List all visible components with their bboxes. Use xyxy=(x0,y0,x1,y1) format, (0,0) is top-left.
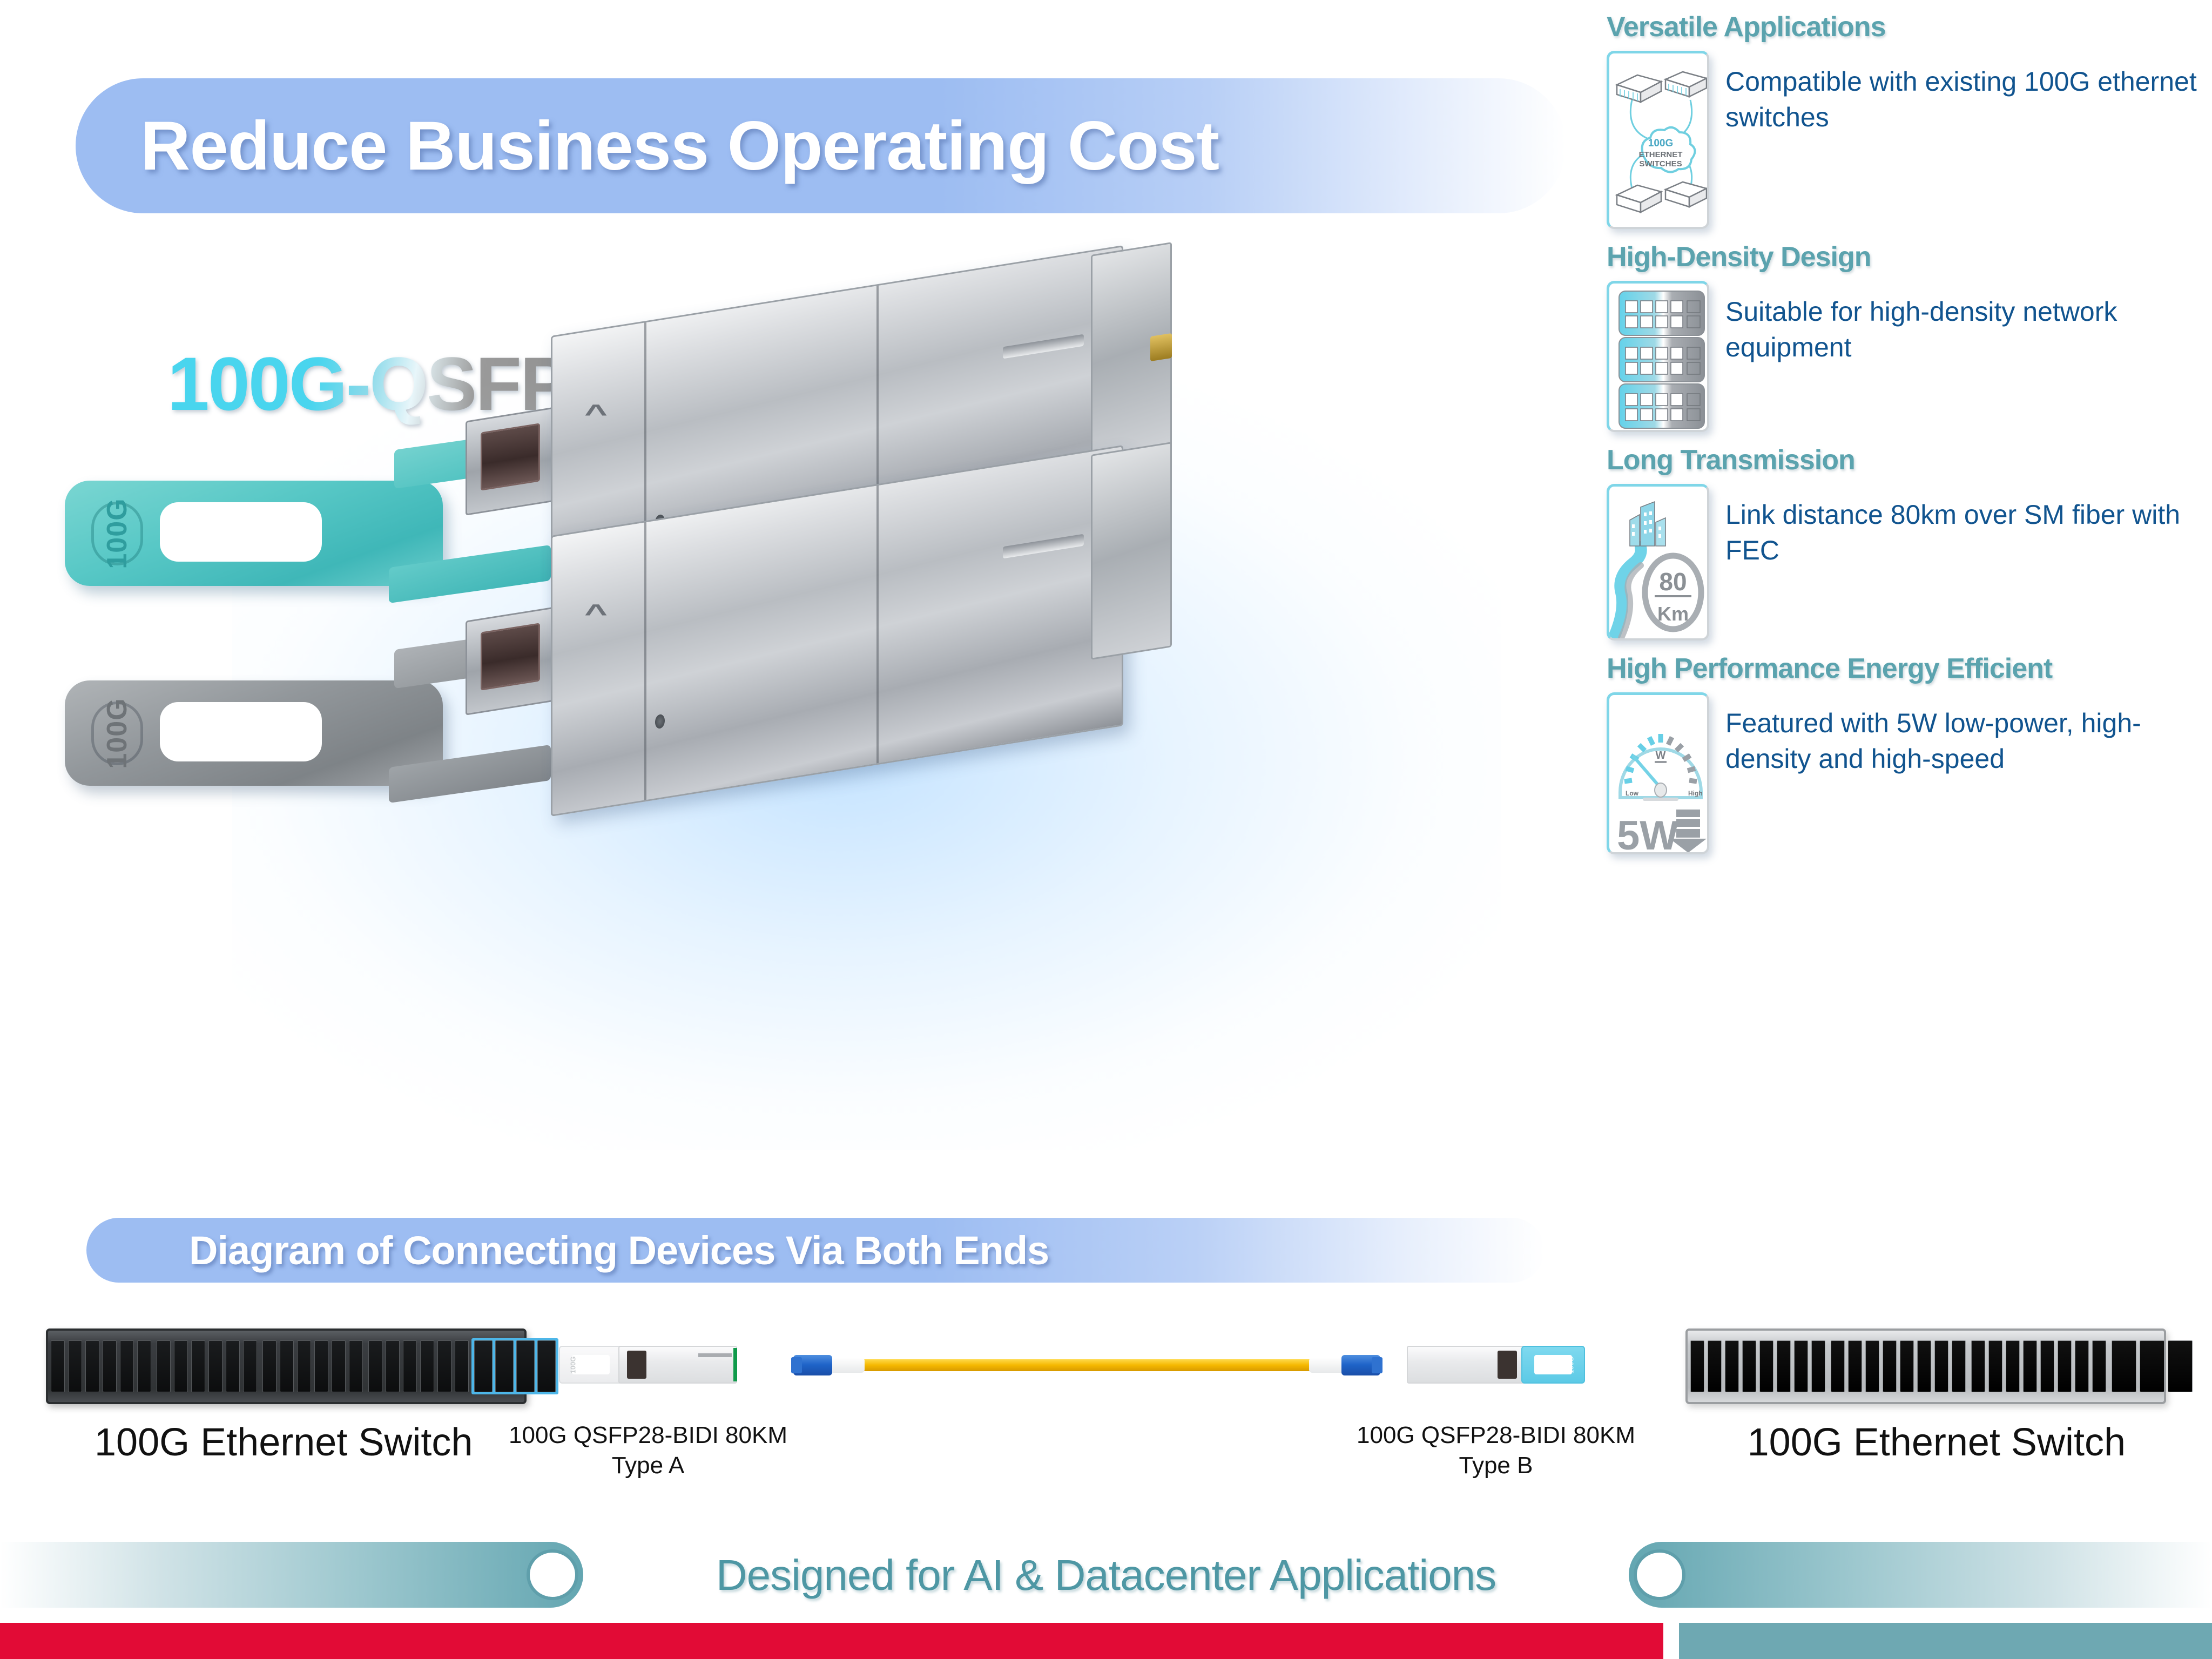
sfp-port xyxy=(1900,1340,1914,1392)
feature-list: Versatile Applications xyxy=(1607,11,2201,866)
qsfp-port-group-highlighted xyxy=(471,1338,558,1394)
sfp-port xyxy=(2006,1340,2020,1392)
qsfp-port xyxy=(474,1340,493,1392)
lc-connector-cap-left xyxy=(791,1357,802,1373)
sfp-port xyxy=(137,1340,151,1392)
left-ethernet-switch xyxy=(46,1328,527,1404)
sfp-port xyxy=(455,1340,469,1392)
sfp-port xyxy=(1934,1340,1948,1392)
fiber-cable-jacket xyxy=(860,1359,1314,1371)
feature-description: Suitable for high-density network equipm… xyxy=(1725,281,2201,365)
sfp-port xyxy=(332,1340,346,1392)
sfp-port xyxy=(1742,1340,1756,1392)
product-photo: 100G ^ 100G ^ xyxy=(135,302,1550,1199)
sfp-port xyxy=(85,1340,99,1392)
sfp-port xyxy=(2040,1340,2054,1392)
module-a-pull-tab: 100G xyxy=(559,1346,623,1384)
power-gauge-icon: W Low High 5W xyxy=(1607,692,1709,854)
sfp-port xyxy=(68,1340,82,1392)
qsfp-port xyxy=(516,1340,535,1392)
sfp-port xyxy=(1690,1340,1704,1392)
svg-text:Low: Low xyxy=(1626,790,1639,797)
housing-slot xyxy=(1003,334,1084,359)
sfp-port-group xyxy=(1688,1340,1828,1392)
sfp-port-group xyxy=(260,1340,366,1392)
sfp-port xyxy=(2058,1340,2072,1392)
feature-description: Link distance 80km over SM fiber with FE… xyxy=(1725,484,2201,568)
sfp-port xyxy=(403,1340,417,1392)
feature-heading: High Performance Energy Efficient xyxy=(1607,652,2201,685)
orientation-chevron-gray: ^ xyxy=(584,598,608,628)
road-distance-icon: 80 Km xyxy=(1607,484,1709,640)
strip-teal xyxy=(1679,1623,2212,1659)
bottom-color-strip xyxy=(0,1623,2212,1659)
housing-seam xyxy=(644,522,646,800)
sfp-port xyxy=(2075,1340,2089,1392)
sfp-port xyxy=(1917,1340,1931,1392)
module-type-a: 100G xyxy=(559,1346,737,1384)
svg-text:80: 80 xyxy=(1659,568,1687,596)
svg-text:100G: 100G xyxy=(1648,138,1673,149)
qsfp-port xyxy=(495,1340,514,1392)
sfp-port xyxy=(1794,1340,1808,1392)
sfp-port-group xyxy=(154,1340,260,1392)
right-switch-label: 100G Ethernet Switch xyxy=(1748,1420,2126,1465)
qsfp-port-group xyxy=(2109,1340,2195,1392)
sfp-port xyxy=(1988,1340,2002,1392)
qsfp28-module-gray: 100G ^ xyxy=(70,464,1474,950)
svg-text:High: High xyxy=(1688,790,1703,797)
sfp-port xyxy=(280,1340,294,1392)
footer-tagline: Designed for AI & Datacenter Application… xyxy=(0,1550,2212,1600)
module-a-optical-port xyxy=(627,1351,646,1379)
feature-energy-efficient: High Performance Energy Efficient xyxy=(1607,652,2201,854)
sfp-port xyxy=(243,1340,257,1392)
module-a-label-strip xyxy=(698,1353,732,1357)
module-b-caption: 100G QSFP28-BIDI 80KM Type B xyxy=(1345,1420,1647,1481)
header-banner: Reduce Business Operating Cost xyxy=(76,78,1566,213)
sfp-port xyxy=(157,1340,171,1392)
sfp-port xyxy=(1725,1340,1739,1392)
qsfp-port xyxy=(537,1340,556,1392)
strip-red xyxy=(0,1623,1663,1659)
sfp-port xyxy=(226,1340,240,1392)
feature-versatile-applications: Versatile Applications xyxy=(1607,11,2201,229)
housing-screw xyxy=(655,714,665,730)
feature-heading: Long Transmission xyxy=(1607,444,2201,476)
feature-description: Compatible with existing 100G ethernet s… xyxy=(1725,51,2201,135)
sfp-port xyxy=(1865,1340,1879,1392)
strip-gap xyxy=(1663,1623,1679,1659)
housing-seam xyxy=(876,485,879,764)
qsfp-port xyxy=(2112,1340,2136,1392)
module-type-b: 100G xyxy=(1407,1346,1585,1384)
fiber-boot-left xyxy=(830,1358,865,1373)
qsfp-port xyxy=(2168,1340,2193,1392)
module-housing-gray xyxy=(551,445,1123,817)
sfp-port xyxy=(1759,1340,1773,1392)
sfp-port xyxy=(437,1340,451,1392)
orientation-chevron-teal: ^ xyxy=(584,399,608,428)
svg-text:ETHERNET: ETHERNET xyxy=(1639,150,1683,159)
sfp-port xyxy=(1777,1340,1791,1392)
sfp-port-group xyxy=(1968,1340,2109,1392)
sfp-port-group xyxy=(366,1340,471,1392)
sfp-port xyxy=(174,1340,188,1392)
module-b-name: 100G QSFP28-BIDI 80KM xyxy=(1357,1422,1635,1448)
diagram-banner-title: Diagram of Connecting Devices Via Both E… xyxy=(189,1228,1049,1273)
module-b-type: Type B xyxy=(1459,1452,1533,1479)
sfp-port xyxy=(262,1340,276,1392)
module-tail-gray xyxy=(1091,442,1172,660)
sfp-port xyxy=(314,1340,328,1392)
sfp-port xyxy=(1883,1340,1897,1392)
feature-high-density-design: High-Density Design xyxy=(1607,241,2201,432)
pull-tab-badge: 100G xyxy=(569,1356,577,1373)
pull-tab-cutout xyxy=(160,702,322,761)
page-title: Reduce Business Operating Cost xyxy=(140,106,1219,186)
footer-banner: Designed for AI & Datacenter Application… xyxy=(0,1542,2212,1628)
sfp-port xyxy=(1831,1340,1845,1392)
module-a-caption: 100G QSFP28-BIDI 80KM Type A xyxy=(497,1420,799,1481)
sfp-port-group xyxy=(48,1340,154,1392)
left-switch-label: 100G Ethernet Switch xyxy=(95,1420,473,1465)
sfp-port xyxy=(386,1340,400,1392)
pull-tab-gray: 100G xyxy=(65,680,443,786)
fiber-patch-cable xyxy=(791,1354,1382,1376)
sfp-port xyxy=(1811,1340,1825,1392)
qsfp-port xyxy=(2140,1340,2164,1392)
sfp-port xyxy=(1848,1340,1862,1392)
sfp-port xyxy=(1708,1340,1722,1392)
connection-diagram: 100G Ethernet Switch 100G 100G QSFP28-BI… xyxy=(0,1312,2212,1539)
diagram-banner: Diagram of Connecting Devices Via Both E… xyxy=(86,1218,1545,1283)
module-a-name: 100G QSFP28-BIDI 80KM xyxy=(509,1422,787,1448)
cloud-network-switches-icon: 100G ETHERNET SWITCHES xyxy=(1607,51,1709,229)
feature-heading: Versatile Applications xyxy=(1607,11,2201,43)
sfp-port xyxy=(120,1340,134,1392)
fiber-boot-right xyxy=(1309,1358,1344,1373)
sfp-port xyxy=(103,1340,117,1392)
svg-text:5W: 5W xyxy=(1617,813,1678,854)
sfp-port xyxy=(2023,1340,2037,1392)
lc-connector-cap-right xyxy=(1372,1357,1382,1373)
sfp-port xyxy=(208,1340,222,1392)
module-a-type: Type A xyxy=(612,1452,685,1479)
svg-text:SWITCHES: SWITCHES xyxy=(1639,159,1682,168)
right-ethernet-switch xyxy=(1685,1328,2166,1404)
feature-heading: High-Density Design xyxy=(1607,241,2201,273)
gold-contact-teal xyxy=(1150,333,1172,361)
feature-long-transmission: Long Transmission xyxy=(1607,444,2201,640)
feature-description: Featured with 5W low-power, high-density… xyxy=(1725,692,2201,777)
sfp-port xyxy=(297,1340,311,1392)
module-a-edge-connector xyxy=(733,1348,737,1381)
module-b-optical-port xyxy=(1498,1351,1517,1379)
pull-tab-badge: 100G xyxy=(1567,1356,1575,1373)
optical-port-gray xyxy=(481,623,540,690)
sfp-port-group xyxy=(1828,1340,1968,1392)
sfp-port xyxy=(368,1340,382,1392)
sfp-port xyxy=(349,1340,363,1392)
sfp-port xyxy=(2092,1340,2106,1392)
sfp-port xyxy=(1971,1340,1985,1392)
sfp-port xyxy=(191,1340,205,1392)
svg-text:Km: Km xyxy=(1657,603,1689,625)
sfp-port xyxy=(1952,1340,1966,1392)
rack-panels-icon xyxy=(1607,281,1709,432)
sfp-port xyxy=(420,1340,434,1392)
svg-text:W: W xyxy=(1656,750,1666,761)
pull-tab-cutout xyxy=(572,1355,610,1375)
pull-tab-badge: 100G xyxy=(91,702,143,765)
module-b-pull-tab: 100G xyxy=(1521,1346,1585,1384)
housing-slot xyxy=(1003,534,1084,559)
sfp-port xyxy=(51,1340,65,1392)
